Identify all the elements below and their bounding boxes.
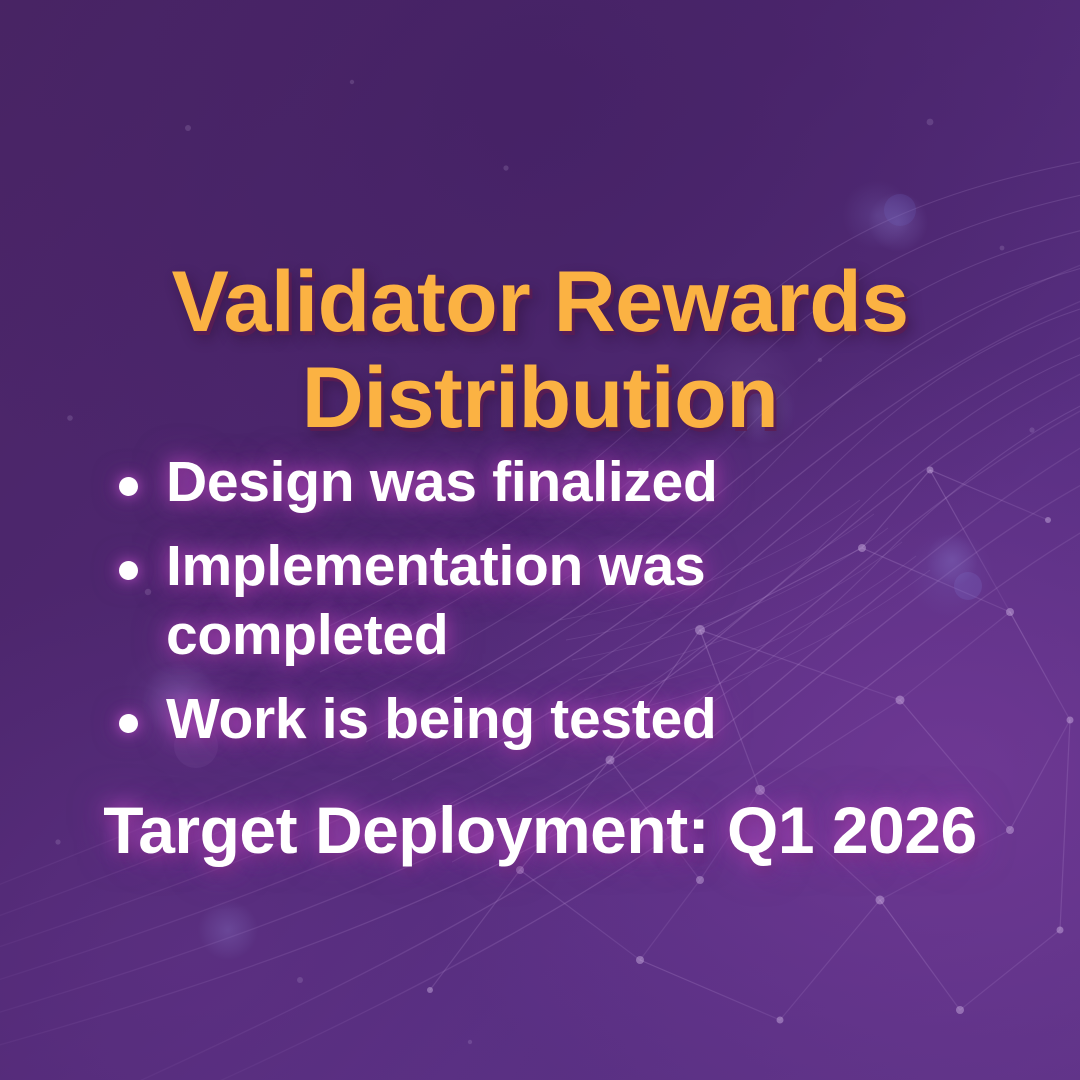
bullet-dot-icon — [119, 714, 138, 733]
list-item: Design was finalized — [110, 448, 970, 518]
bullet-dot-icon — [119, 477, 138, 496]
bullet-dot-icon — [119, 561, 138, 580]
slide-canvas: Validator Rewards Distribution Design wa… — [0, 0, 1080, 1080]
target-deployment-text: Target Deployment: Q1 2026 — [40, 792, 1040, 868]
list-item: Implementation was completed — [110, 532, 970, 671]
page-title: Validator Rewards Distribution — [90, 254, 990, 447]
list-item: Work is being tested — [110, 685, 970, 755]
bullet-list: Design was finalized Implementation was … — [110, 448, 970, 768]
list-item-label: Design was finalized — [166, 450, 717, 514]
slide-content: Validator Rewards Distribution Design wa… — [0, 0, 1080, 1080]
list-item-label: Implementation was completed — [166, 534, 705, 668]
list-item-label: Work is being tested — [166, 687, 716, 751]
